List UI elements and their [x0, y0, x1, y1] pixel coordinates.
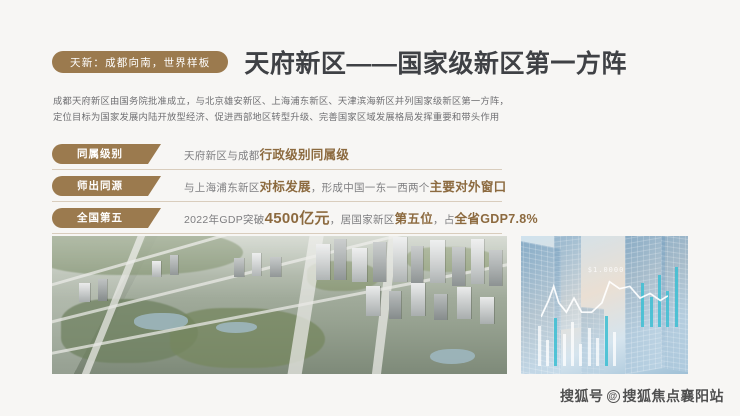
aerial-city-rendering	[52, 236, 507, 374]
at-icon: @	[607, 390, 620, 403]
finance-skyline-overlay: $1.0000	[521, 236, 688, 374]
fact-text-segment: 主要对外窗口	[430, 180, 507, 194]
fact-text-segment: ，形成中国一东一西两个	[311, 182, 430, 194]
fact-badge: 师出同源	[52, 176, 148, 196]
fact-text-segment: ，居国家新区	[330, 214, 395, 226]
fact-text-segment: 4500亿元	[265, 210, 330, 227]
fact-text-segment: 行政级别同属级	[260, 148, 350, 162]
kicker-badge: 天新：成都向南，世界样板	[52, 51, 228, 73]
fact-text-segment: 第五位	[395, 212, 433, 226]
fact-badge: 全国第五	[52, 208, 148, 228]
fact-row: 师出同源 与上海浦东新区对标发展，形成中国一东一西两个主要对外窗口	[52, 170, 502, 202]
intro-paragraph: 成都天府新区由国务院批准成立，与北京雄安新区、上海浦东新区、天津滨海新区并列国家…	[53, 93, 473, 125]
fact-row: 同属级别 天府新区与成都行政级别同属级	[52, 138, 502, 170]
fact-text-segment: 全省GDP7.8%	[455, 212, 538, 226]
finance-skyline-photo: $1.0000	[521, 236, 688, 374]
fact-text-segment: 天府新区与成都	[184, 150, 260, 162]
fact-text-segment: 2022年GDP突破	[184, 214, 265, 226]
aerial-city-photo	[52, 236, 507, 374]
fact-text: 天府新区与成都行政级别同属级	[184, 144, 349, 163]
fact-text: 与上海浦东新区对标发展，形成中国一东一西两个主要对外窗口	[184, 176, 506, 195]
header: 天新：成都向南，世界样板 天府新区——国家级新区第一方阵	[52, 44, 627, 80]
watermark-suffix: 搜狐焦点襄阳站	[623, 386, 725, 406]
watermark: 搜狐号 @ 搜狐焦点襄阳站	[560, 386, 724, 406]
fact-text-segment: ，占	[433, 214, 455, 226]
fact-list: 同属级别 天府新区与成都行政级别同属级 师出同源 与上海浦东新区对标发展，形成中…	[52, 138, 502, 234]
intro-line-1: 成都天府新区由国务院批准成立，与北京雄安新区、上海浦东新区、天津滨海新区并列国家…	[53, 93, 473, 109]
fact-text-segment: 与上海浦东新区	[184, 182, 260, 194]
intro-line-2: 定位目标为国家发展内陆开放型经济、促进西部地区转型升级、完善国家区域发展格局发挥…	[53, 109, 473, 125]
slide-canvas: 天新：成都向南，世界样板 天府新区——国家级新区第一方阵 成都天府新区由国务院批…	[0, 0, 740, 416]
trend-line-icon	[541, 277, 668, 324]
overlay-number: $1.0000	[588, 266, 625, 274]
watermark-prefix: 搜狐号	[560, 386, 604, 406]
page-title: 天府新区——国家级新区第一方阵	[244, 44, 627, 80]
fact-row: 全国第五 2022年GDP突破4500亿元，居国家新区第五位，占全省GDP7.8…	[52, 202, 502, 234]
fact-text-segment: 对标发展	[260, 180, 311, 194]
fact-badge: 同属级别	[52, 144, 148, 164]
fact-text: 2022年GDP突破4500亿元，居国家新区第五位，占全省GDP7.8%	[184, 207, 538, 228]
